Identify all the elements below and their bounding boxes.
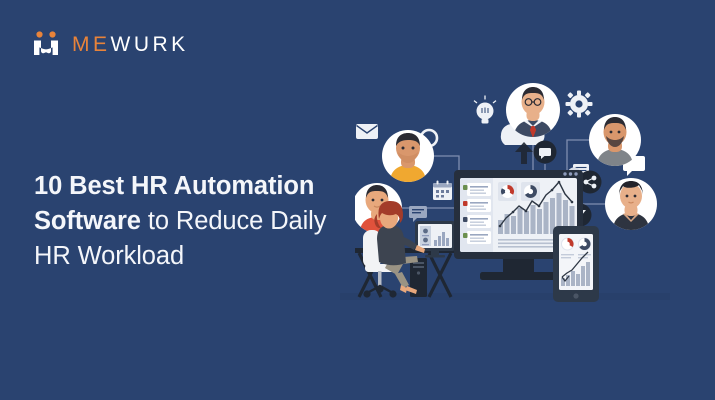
speech-bubble-icon <box>409 206 427 222</box>
envelope-icon <box>356 124 378 139</box>
avatar-woman-dark-hair <box>605 178 657 230</box>
chat-bubble-icon <box>534 141 557 164</box>
brand-logo-text: MEWURK <box>72 34 189 55</box>
tablet-donut-2 <box>579 238 591 250</box>
brand-logo[interactable]: MEWURK <box>30 28 189 60</box>
avatar-man-orange-shirt <box>382 130 434 182</box>
calendar-icon <box>433 181 452 201</box>
hr-automation-illustration <box>355 78 700 313</box>
promo-banner: MEWURK 10 Best HR Automation Software to… <box>0 0 715 400</box>
avatar-man-grey-shirt <box>589 114 641 166</box>
tablet-donut-1 <box>562 238 574 250</box>
donut-chart-1 <box>498 182 517 201</box>
mewurk-m-people-mark-icon <box>30 28 62 60</box>
brand-logo-text-wurk: WURK <box>111 33 189 56</box>
tablet-analytics <box>553 226 599 302</box>
lightbulb-icon <box>474 96 496 124</box>
donut-chart-2 <box>521 182 540 201</box>
brand-logo-text-me: ME <box>72 33 111 56</box>
gear-icon <box>566 91 593 118</box>
page-title: 10 Best HR Automation Software to Reduce… <box>34 169 334 274</box>
